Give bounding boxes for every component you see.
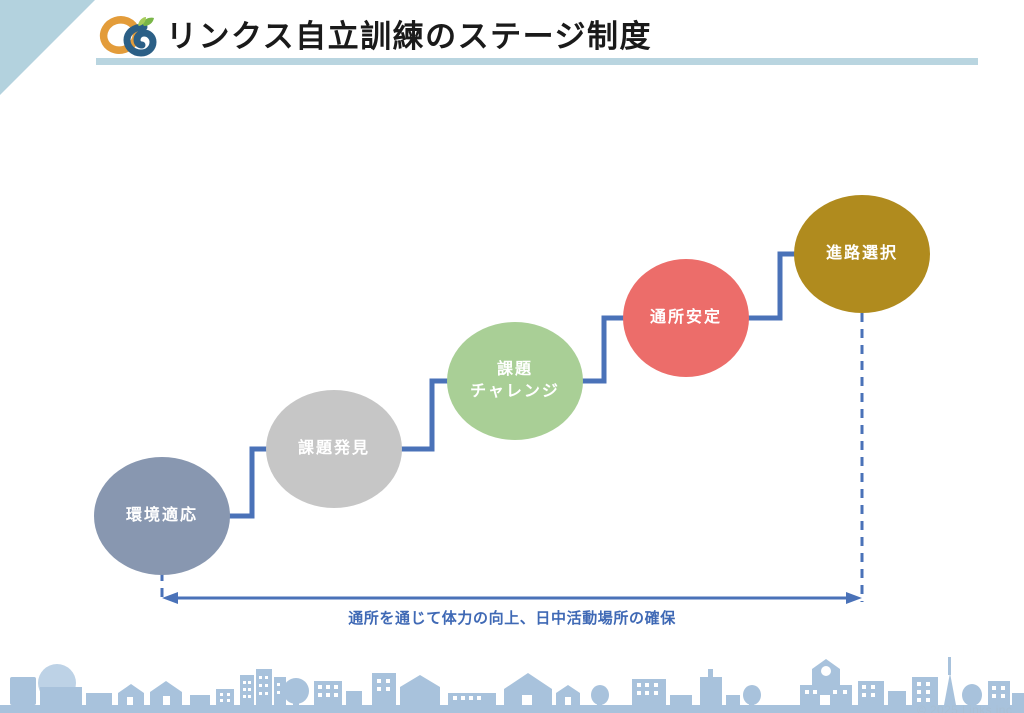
stage-circle-1[interactable]: 環境適応 xyxy=(94,457,230,575)
arrow-head-left xyxy=(162,592,178,604)
stage-circle-4[interactable]: 通所安定 xyxy=(623,259,749,377)
diagram-caption: 通所を通じて体力の向上、日中活動場所の確保 xyxy=(162,607,862,628)
span-arrow xyxy=(162,592,862,604)
copyright-text: © 2025 Links inc. xyxy=(917,703,1016,713)
city-skyline-icon xyxy=(0,651,1024,713)
stage-label-3: 課題 チャレンジ xyxy=(470,359,560,402)
stage-circle-2[interactable]: 課題発見 xyxy=(266,390,402,508)
stage-label-3-line-2: チャレンジ xyxy=(470,383,560,400)
corner-triangle-decoration xyxy=(0,0,95,95)
arrow-head-right xyxy=(846,592,862,604)
stage-label-2: 課題発見 xyxy=(298,438,370,460)
stage-label-4: 通所安定 xyxy=(650,307,722,329)
stage-label-3-line-1: 課題 xyxy=(497,361,533,378)
footer-skyline: © 2025 Links inc. xyxy=(0,651,1024,713)
stage-circle-5[interactable]: 進路選択 xyxy=(794,195,930,313)
links-logo-icon xyxy=(98,12,160,60)
stage-label-1: 環境適応 xyxy=(126,505,198,527)
stage-label-5: 進路選択 xyxy=(826,243,898,265)
page-title: リンクス自立訓練のステージ制度 xyxy=(166,21,652,52)
stage-circle-3[interactable]: 課題 チャレンジ xyxy=(447,322,583,440)
slide-canvas: リンクス自立訓練のステージ制度 環境適応 課題発見 課題 xyxy=(0,0,1024,713)
title-divider-rule xyxy=(96,58,978,65)
